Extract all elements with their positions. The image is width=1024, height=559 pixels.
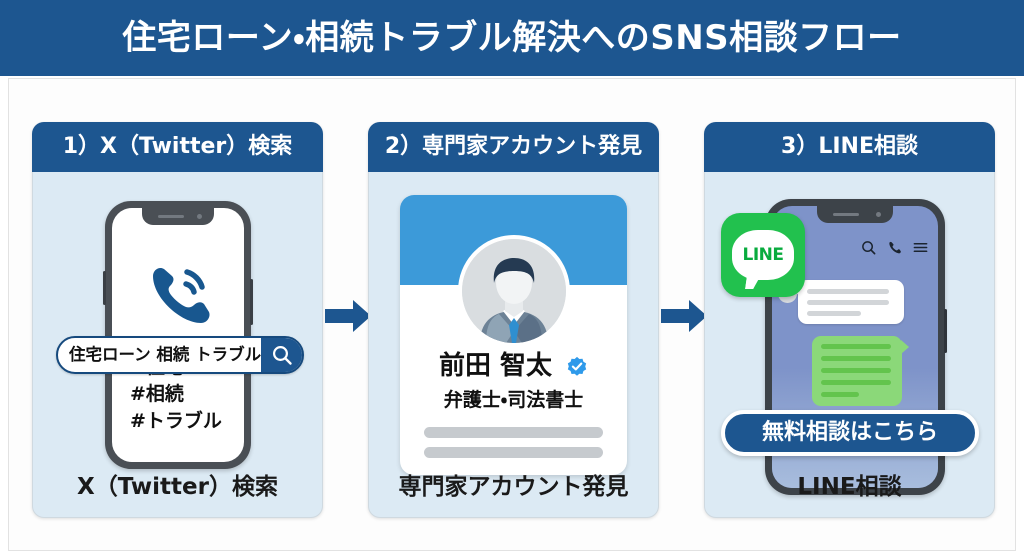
call-icon[interactable] xyxy=(887,240,902,255)
menu-icon[interactable] xyxy=(913,240,928,255)
step-1-header: 1）X（Twitter）検索 xyxy=(32,122,323,172)
search-button[interactable] xyxy=(261,338,302,372)
profile-name: 前田 智太 xyxy=(439,351,552,381)
step-3-illustration: LINE 無料相談はこちら xyxy=(705,173,994,518)
bubble-line xyxy=(821,380,891,385)
verified-badge-icon xyxy=(566,356,588,378)
arrow-step2-to-step3-icon xyxy=(661,299,707,333)
chat-bubble-incoming xyxy=(798,280,904,324)
profile-name-row: 前田 智太 xyxy=(400,353,627,379)
step-3-header-label: 3）LINE相談 xyxy=(781,136,918,158)
bubble-line xyxy=(821,344,891,349)
line-app-logo: LINE xyxy=(721,213,805,297)
step-2-header-label: 2）専門家アカウント発見 xyxy=(385,136,642,158)
arrow-step1-to-step2-icon xyxy=(325,299,371,333)
avatar xyxy=(458,235,570,347)
hashtag-item-3: #トラブル xyxy=(130,408,240,435)
step-1-illustration: #住宅ローン #相続 #トラブル 住宅ローン 相続 トラブル xyxy=(33,173,322,518)
step-2-caption: 専門家アカウント発見 xyxy=(369,476,658,499)
step-3-caption: LINE相談 xyxy=(705,476,994,499)
phone-call-icon xyxy=(141,260,215,330)
bubble-line xyxy=(807,300,889,305)
chat-toolbar xyxy=(861,240,928,255)
phone-notch xyxy=(142,208,214,225)
profile-placeholder-line-1 xyxy=(424,427,603,438)
phone-notch xyxy=(817,206,893,223)
chat-bubble-outgoing xyxy=(812,336,902,406)
step-1-caption: X（Twitter）検索 xyxy=(33,476,322,499)
phone-camera xyxy=(876,212,881,217)
profile-role: 弁護士・司法書士 xyxy=(400,391,627,410)
search-query-text: 住宅ローン 相続 トラブル xyxy=(58,347,261,364)
infographic-canvas: 住宅ローン・相続トラブル解決へのSNS相談フロー 1）X（Twitter）検索 xyxy=(0,0,1024,559)
page-title-bar: 住宅ローン・相続トラブル解決へのSNS相談フロー xyxy=(0,0,1024,76)
smartphone-device-1: #住宅ローン #相続 #トラブル xyxy=(105,201,251,469)
free-consultation-button[interactable]: 無料相談はこちら xyxy=(721,410,979,456)
bubble-line xyxy=(807,311,861,316)
step-3-header: 3）LINE相談 xyxy=(704,122,995,172)
search-icon[interactable] xyxy=(861,240,876,255)
line-logo-bubble: LINE xyxy=(732,230,794,280)
step-2-illustration: 前田 智太 弁護士・司法書士 xyxy=(369,173,658,518)
bubble-line xyxy=(821,392,859,397)
profile-placeholder-line-2 xyxy=(424,447,603,458)
search-input[interactable]: 住宅ローン 相続 トラブル xyxy=(56,336,304,374)
phone-side-button-right xyxy=(944,309,947,353)
step-1-header-label: 1）X（Twitter）検索 xyxy=(63,136,293,158)
step-2-header: 2）専門家アカウント発見 xyxy=(368,122,659,172)
search-icon xyxy=(271,344,293,366)
bubble-line xyxy=(821,356,891,361)
page-title: 住宅ローン・相続トラブル解決へのSNS相談フロー xyxy=(122,21,901,55)
step-card-3[interactable]: 3）LINE相談 xyxy=(704,122,995,518)
line-logo-text: LINE xyxy=(743,247,784,264)
phone-camera xyxy=(197,214,202,219)
phone-speaker xyxy=(833,213,859,216)
expert-profile-card[interactable]: 前田 智太 弁護士・司法書士 xyxy=(400,195,627,475)
step-card-2[interactable]: 2）専門家アカウント発見 xyxy=(368,122,659,518)
phone-screen-1: #住宅ローン #相続 #トラブル xyxy=(112,208,244,462)
bubble-line xyxy=(821,368,891,373)
bubble-line xyxy=(807,289,889,294)
phone-speaker xyxy=(158,215,184,218)
step-card-1[interactable]: 1）X（Twitter）検索 #住宅ローン #相続 #トラブル xyxy=(32,122,323,518)
phone-side-button-left xyxy=(103,271,106,305)
free-consultation-label: 無料相談はこちら xyxy=(762,422,938,444)
hashtag-item-2: #相続 xyxy=(130,381,240,408)
avatar-person-icon xyxy=(462,239,566,343)
phone-side-button-right xyxy=(250,279,253,325)
chat-bubble-tail-right xyxy=(901,340,909,354)
